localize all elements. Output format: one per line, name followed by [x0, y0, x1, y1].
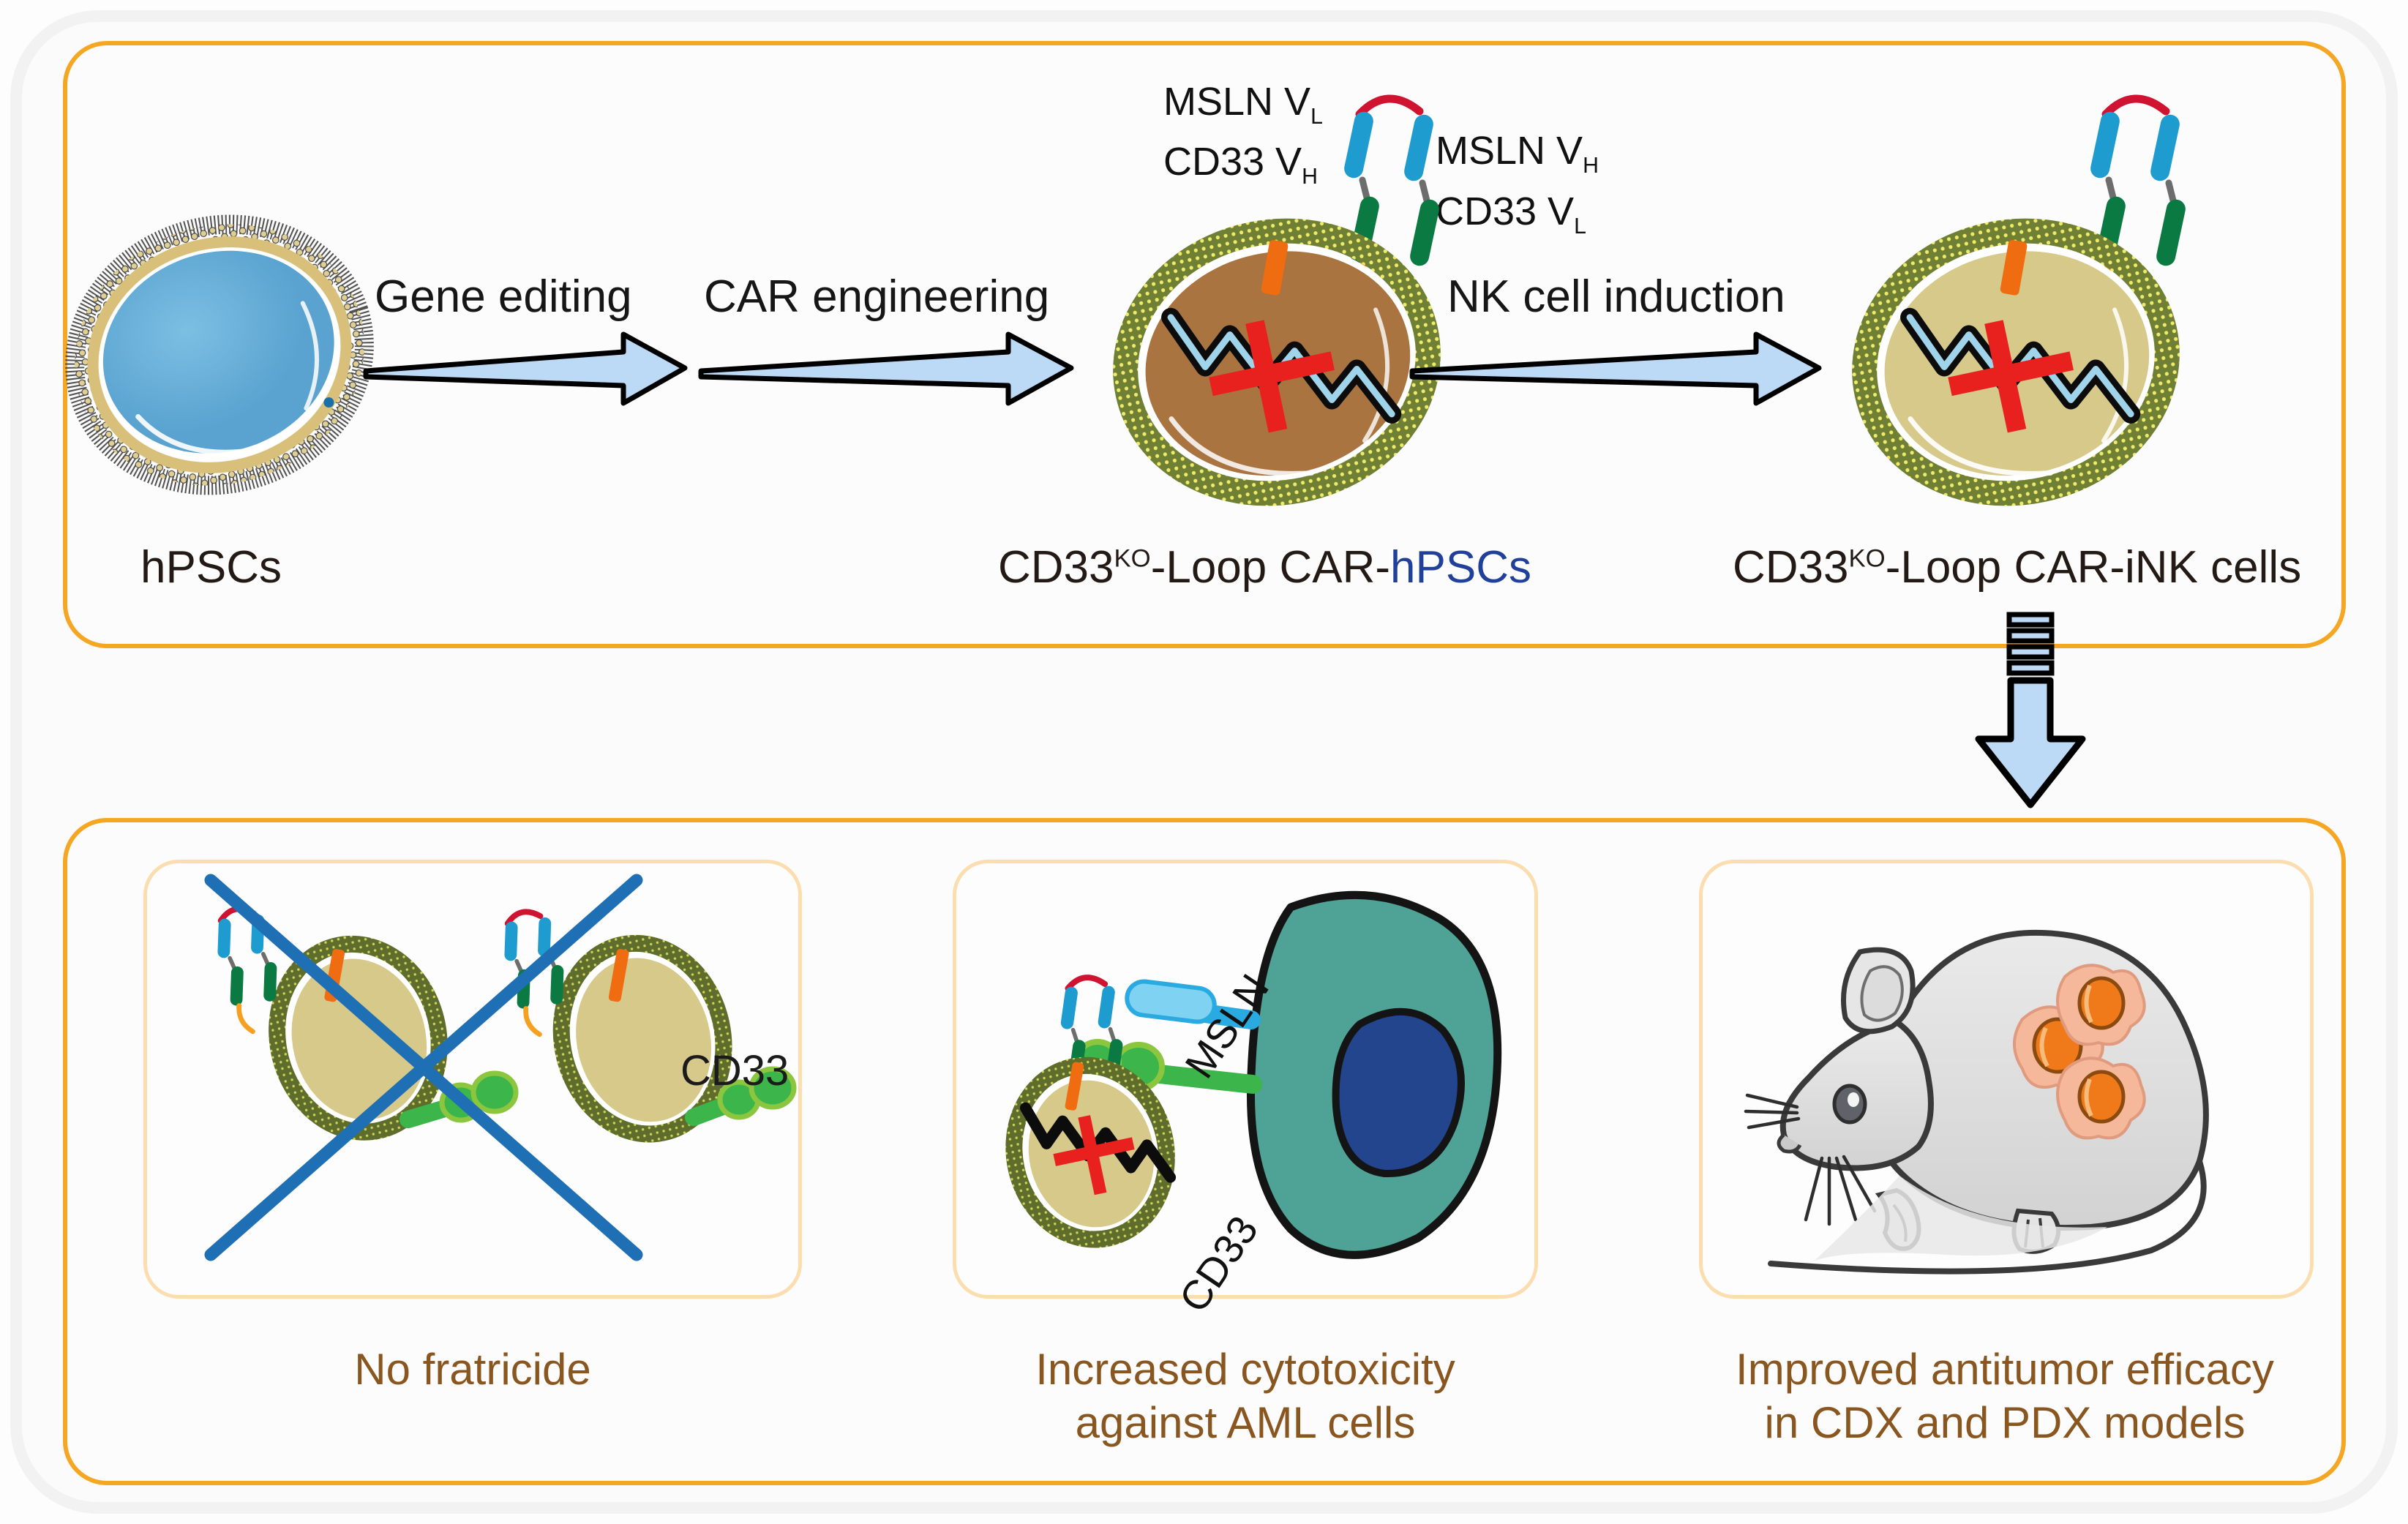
- hpsc-cell-icon: [66, 201, 373, 508]
- graphical-abstract-figure: hPSCs Gene editing CAR engineering MSLN …: [0, 0, 2408, 1524]
- aml-tumor-cell-icon: [1250, 895, 1497, 1255]
- tapered-right-arrow-icon: [1412, 333, 1822, 413]
- arrow-label-nk-induction: NK cell induction: [1447, 271, 1785, 323]
- caption-increased-cytotoxicity: Increased cytotoxicity against AML cells: [938, 1343, 1553, 1449]
- caption-improved-efficacy: Improved antitumor efficacy in CDX and P…: [1683, 1343, 2327, 1449]
- arrow-label-gene-editing: Gene editing: [375, 271, 632, 323]
- cd33ko-loop-car-hpsc-cell-icon: [1112, 216, 1441, 508]
- cd33ko-loop-car-ink-cell-icon: [1851, 216, 2180, 508]
- segmented-down-arrow-icon: [1946, 613, 2115, 811]
- cd33-inline-label-left: CD33: [680, 1046, 789, 1095]
- arrow-label-car-engineering: CAR engineering: [704, 271, 1049, 323]
- tapered-right-arrow-icon: [701, 333, 1074, 413]
- hpsc-cell-label: hPSCs: [140, 541, 282, 593]
- car-label-cd33-vh: CD33 VH: [1163, 139, 1318, 189]
- tapered-right-arrow-icon: [366, 333, 688, 413]
- car-label-msln-vl: MSLN VL: [1163, 79, 1323, 129]
- car-hpsc-cell-label: CD33KO-Loop CAR-hPSCs: [998, 541, 1531, 593]
- caption-no-fratricide: No fratricide: [143, 1343, 802, 1396]
- laboratory-mouse-icon: [1727, 889, 2298, 1288]
- car-ink-cell-label: CD33KO-Loop CAR-iNK cells: [1733, 541, 2301, 593]
